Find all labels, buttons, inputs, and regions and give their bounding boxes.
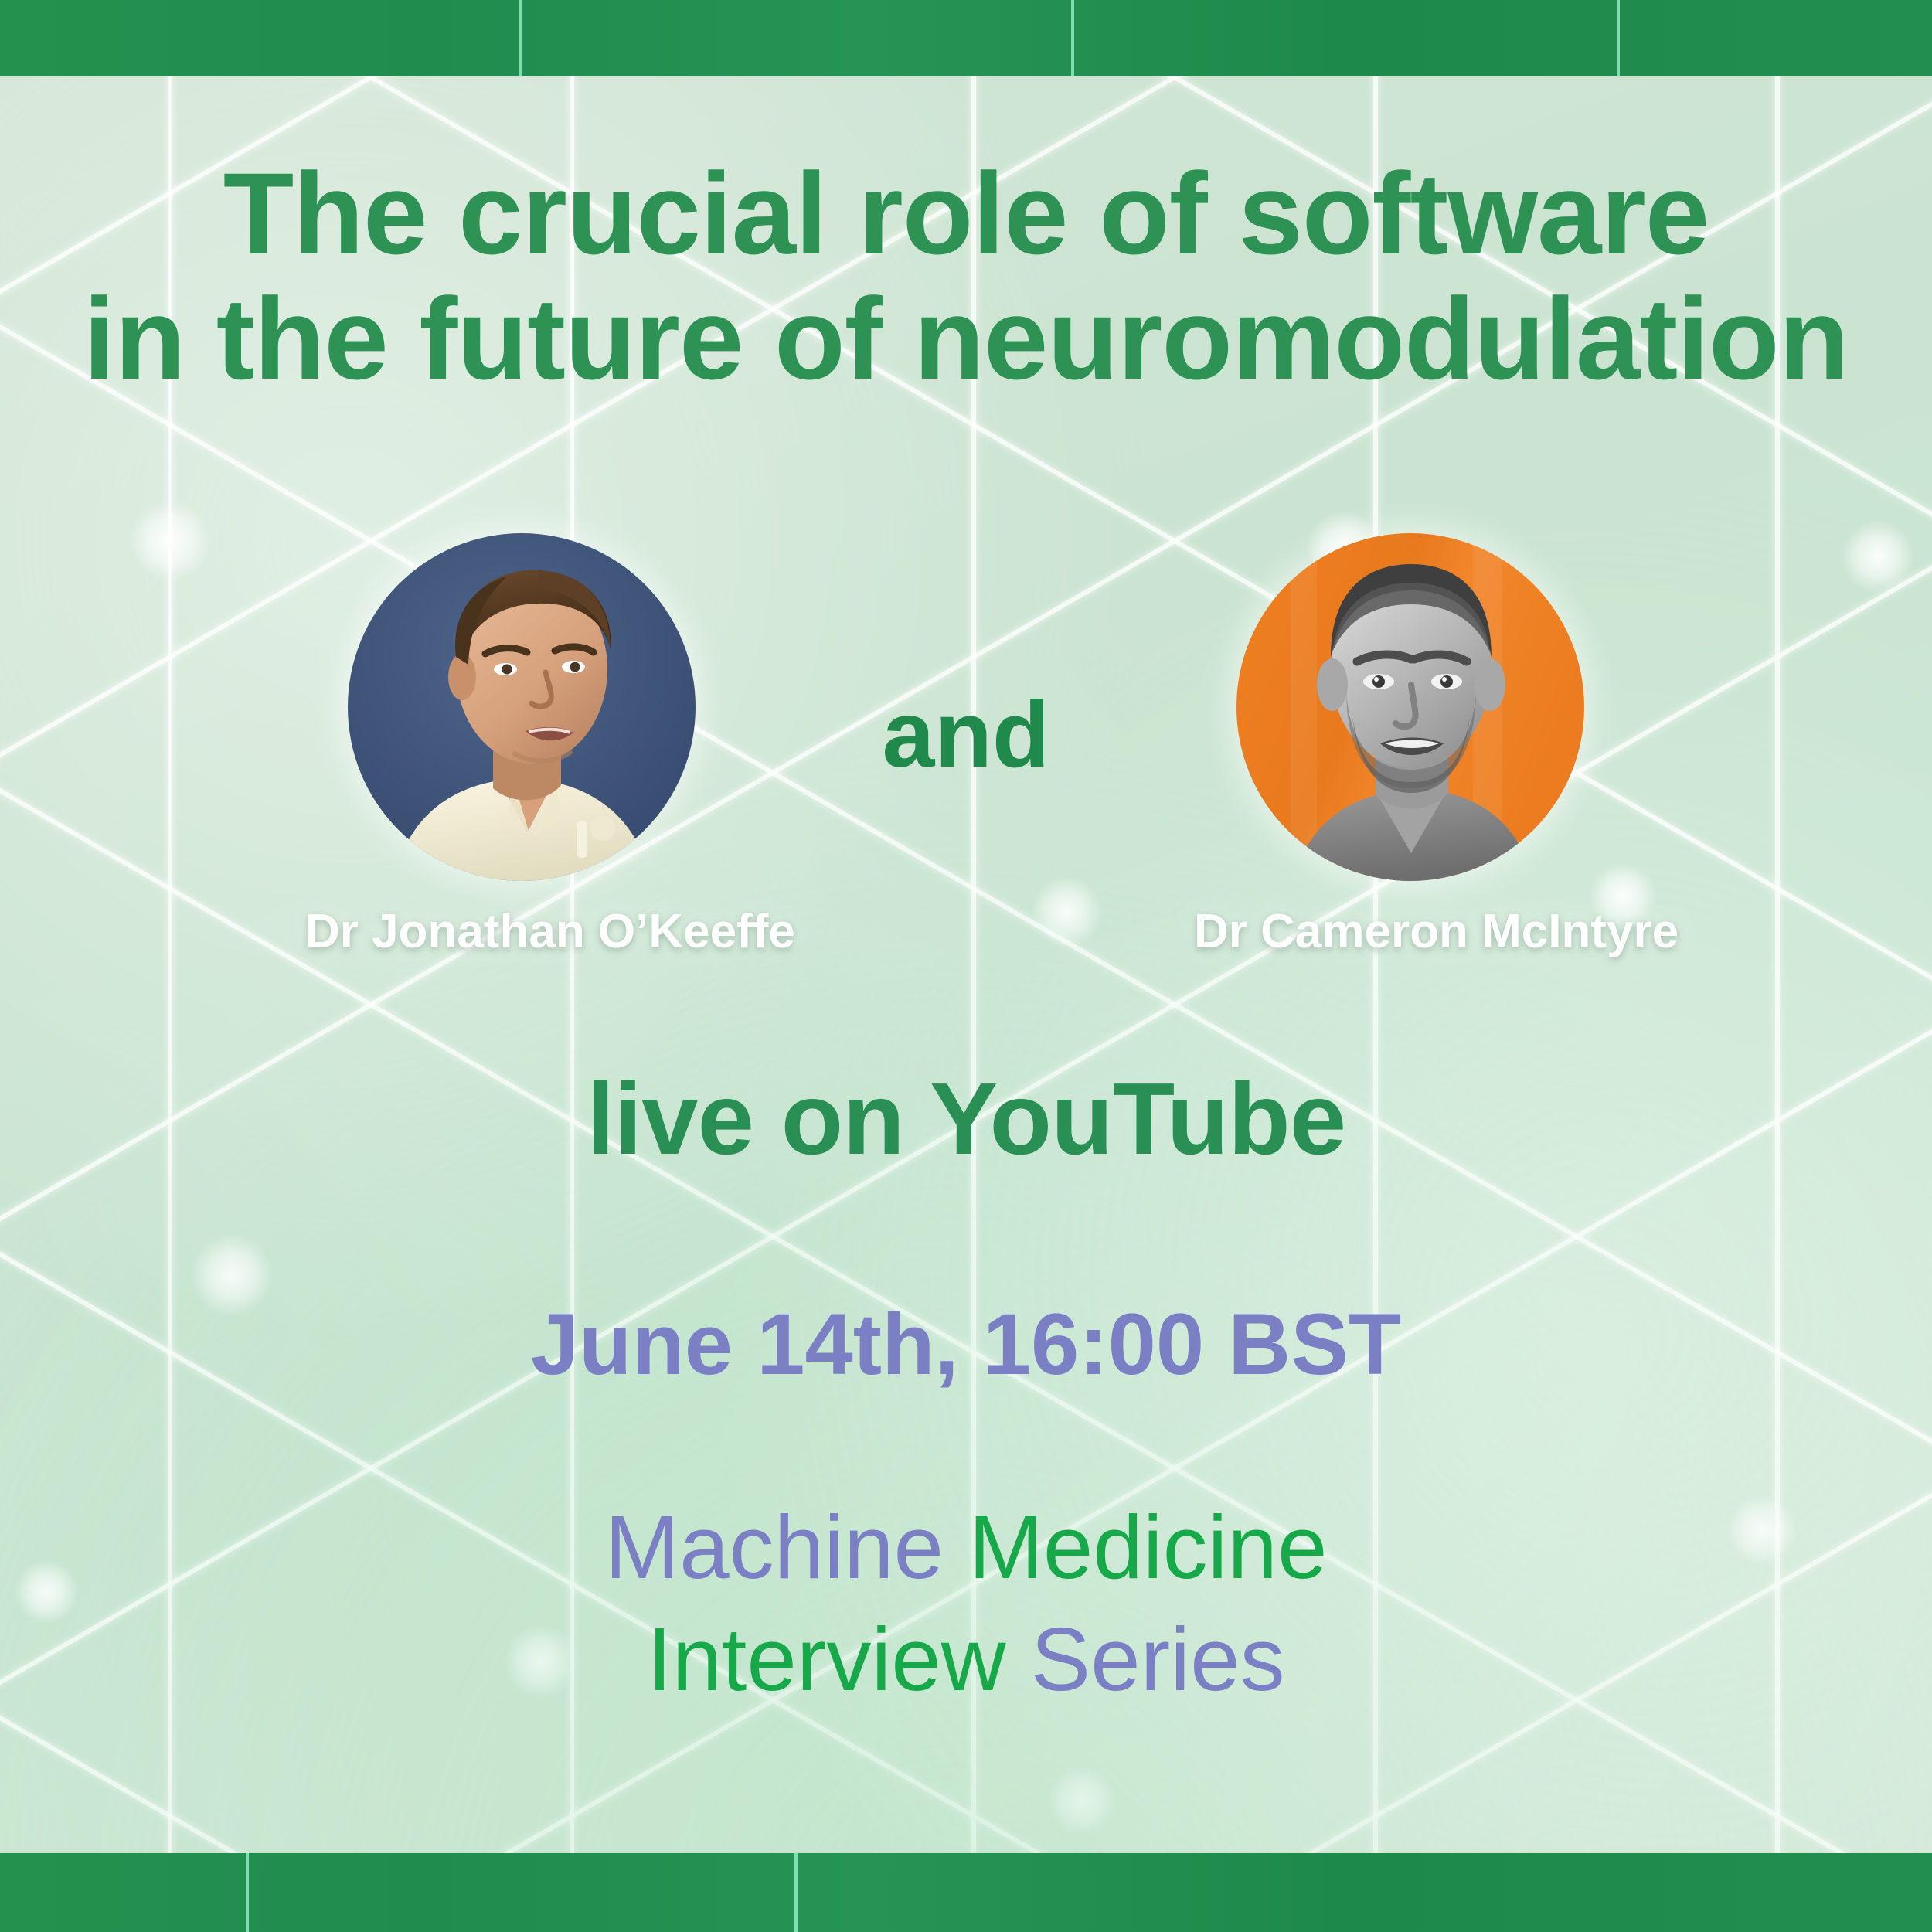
title-line-2: in the future of neuromodulation — [0, 276, 1932, 401]
bottom-accent-bar — [0, 1853, 1932, 1932]
page-title: The crucial role of software in the futu… — [0, 151, 1932, 401]
date-time-text: June 14th, 16:00 BST — [0, 1294, 1932, 1394]
brand-line-2: Interview Series — [0, 1604, 1932, 1716]
live-on-youtube-text: live on YouTube — [0, 1060, 1932, 1177]
promo-poster: The crucial role of software in the futu… — [0, 0, 1932, 1932]
brand-series: Series — [1031, 1609, 1285, 1709]
title-line-1: The crucial role of software — [0, 151, 1932, 276]
speaker-name-right: Dr Cameron McIntyre — [1194, 904, 1627, 959]
brand-machine: Machine — [605, 1497, 944, 1597]
brand-medicine: Medicine — [968, 1497, 1327, 1597]
brand-block: Machine Medicine Interview Series — [0, 1492, 1932, 1716]
brand-interview: Interview — [647, 1609, 1005, 1709]
speaker-name-left: Dr Jonathan O’Keeffe — [305, 904, 738, 959]
top-accent-bar — [0, 0, 1932, 76]
brand-line-1: Machine Medicine — [0, 1492, 1932, 1604]
conjunction-and: and — [0, 680, 1932, 788]
